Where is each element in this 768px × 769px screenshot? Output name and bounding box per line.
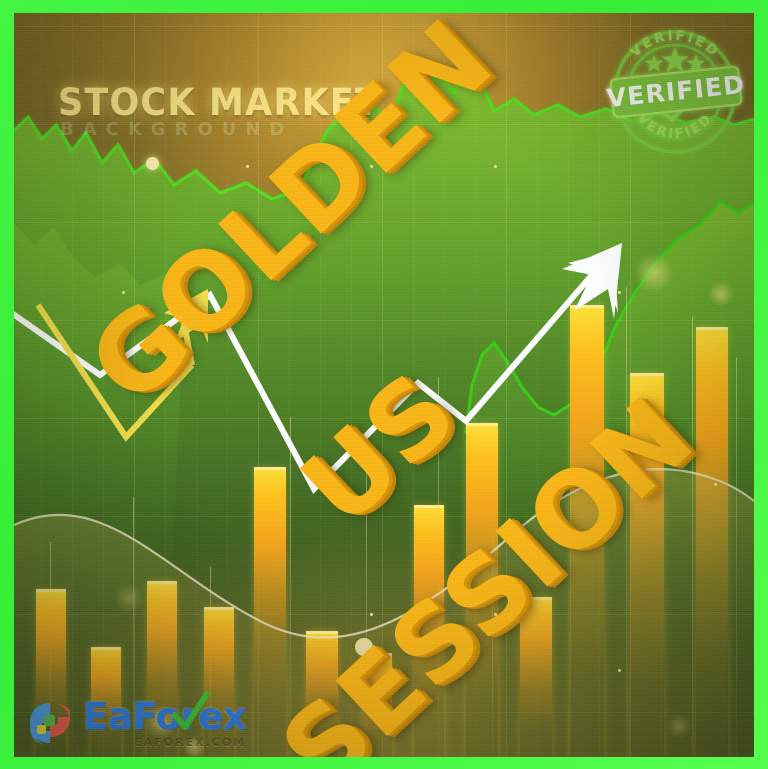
verified-stamp-badge: VERIFIED VERIFIED VERIFIE bbox=[604, 21, 746, 163]
poster-root: STOCK MARKET BACKGROUND GOLDEN US SESSIO… bbox=[0, 0, 768, 769]
brand-name: EaForex bbox=[83, 698, 246, 735]
page-subtitle: BACKGROUND bbox=[60, 119, 293, 140]
green-check-icon bbox=[169, 691, 211, 735]
brand-sub: EAFOREX.COM bbox=[83, 736, 246, 749]
artboard: STOCK MARKET BACKGROUND GOLDEN US SESSIO… bbox=[14, 13, 754, 757]
pinwheel-logo-icon bbox=[24, 697, 76, 749]
brand-logo[interactable]: EaForex EAFOREX.COM bbox=[24, 697, 246, 749]
